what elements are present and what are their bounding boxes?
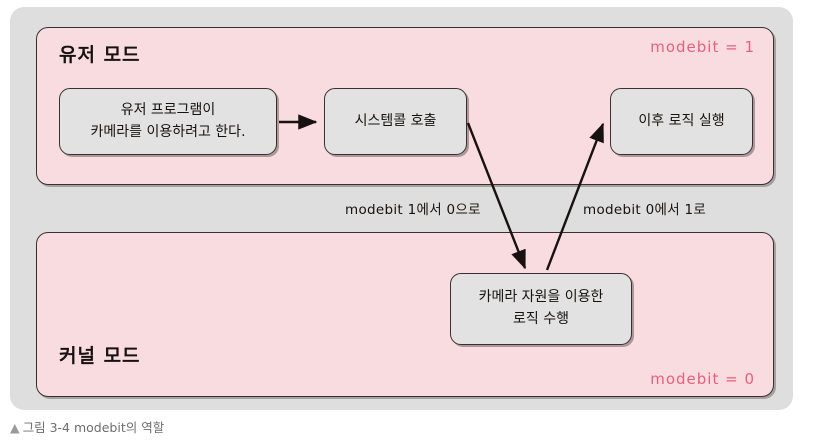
caption-text: 그림 3-4 modebit의 역할 xyxy=(23,420,165,435)
transition-label-up: modebit 0에서 1로 xyxy=(583,198,706,218)
modebit-figure: 유저 모드 modebit = 1 커널 모드 modebit = 0 유저 프… xyxy=(0,0,815,440)
kernel-mode-modebit-label: modebit = 0 xyxy=(650,370,755,388)
transition-label-down: modebit 1에서 0으로 xyxy=(345,198,481,218)
node-kernel-logic: 카메라 자원을 이용한 로직 수행 xyxy=(450,273,632,345)
kernel-mode-title: 커널 모드 xyxy=(59,341,141,368)
node-user-program: 유저 프로그램이 카메라를 이용하려고 한다. xyxy=(59,88,277,155)
node-user-program-line2: 카메라를 이용하려고 한다. xyxy=(90,122,245,144)
node-kernel-logic-line1: 카메라 자원을 이용한 xyxy=(479,287,604,309)
node-syscall-label: 시스템콜 호출 xyxy=(355,111,437,133)
kernel-mode-panel: 커널 모드 modebit = 0 xyxy=(36,232,774,397)
node-after-logic: 이후 로직 실행 xyxy=(610,88,753,155)
node-user-program-line1: 유저 프로그램이 xyxy=(90,100,245,122)
node-syscall: 시스템콜 호출 xyxy=(324,88,467,155)
figure-caption: ▲그림 3-4 modebit의 역할 xyxy=(10,417,164,436)
user-mode-title: 유저 모드 xyxy=(59,40,141,67)
user-mode-modebit-label: modebit = 1 xyxy=(650,38,755,56)
node-kernel-logic-line2: 로직 수행 xyxy=(479,309,604,331)
caption-triangle-icon: ▲ xyxy=(10,420,20,435)
node-after-logic-label: 이후 로직 실행 xyxy=(638,111,724,133)
